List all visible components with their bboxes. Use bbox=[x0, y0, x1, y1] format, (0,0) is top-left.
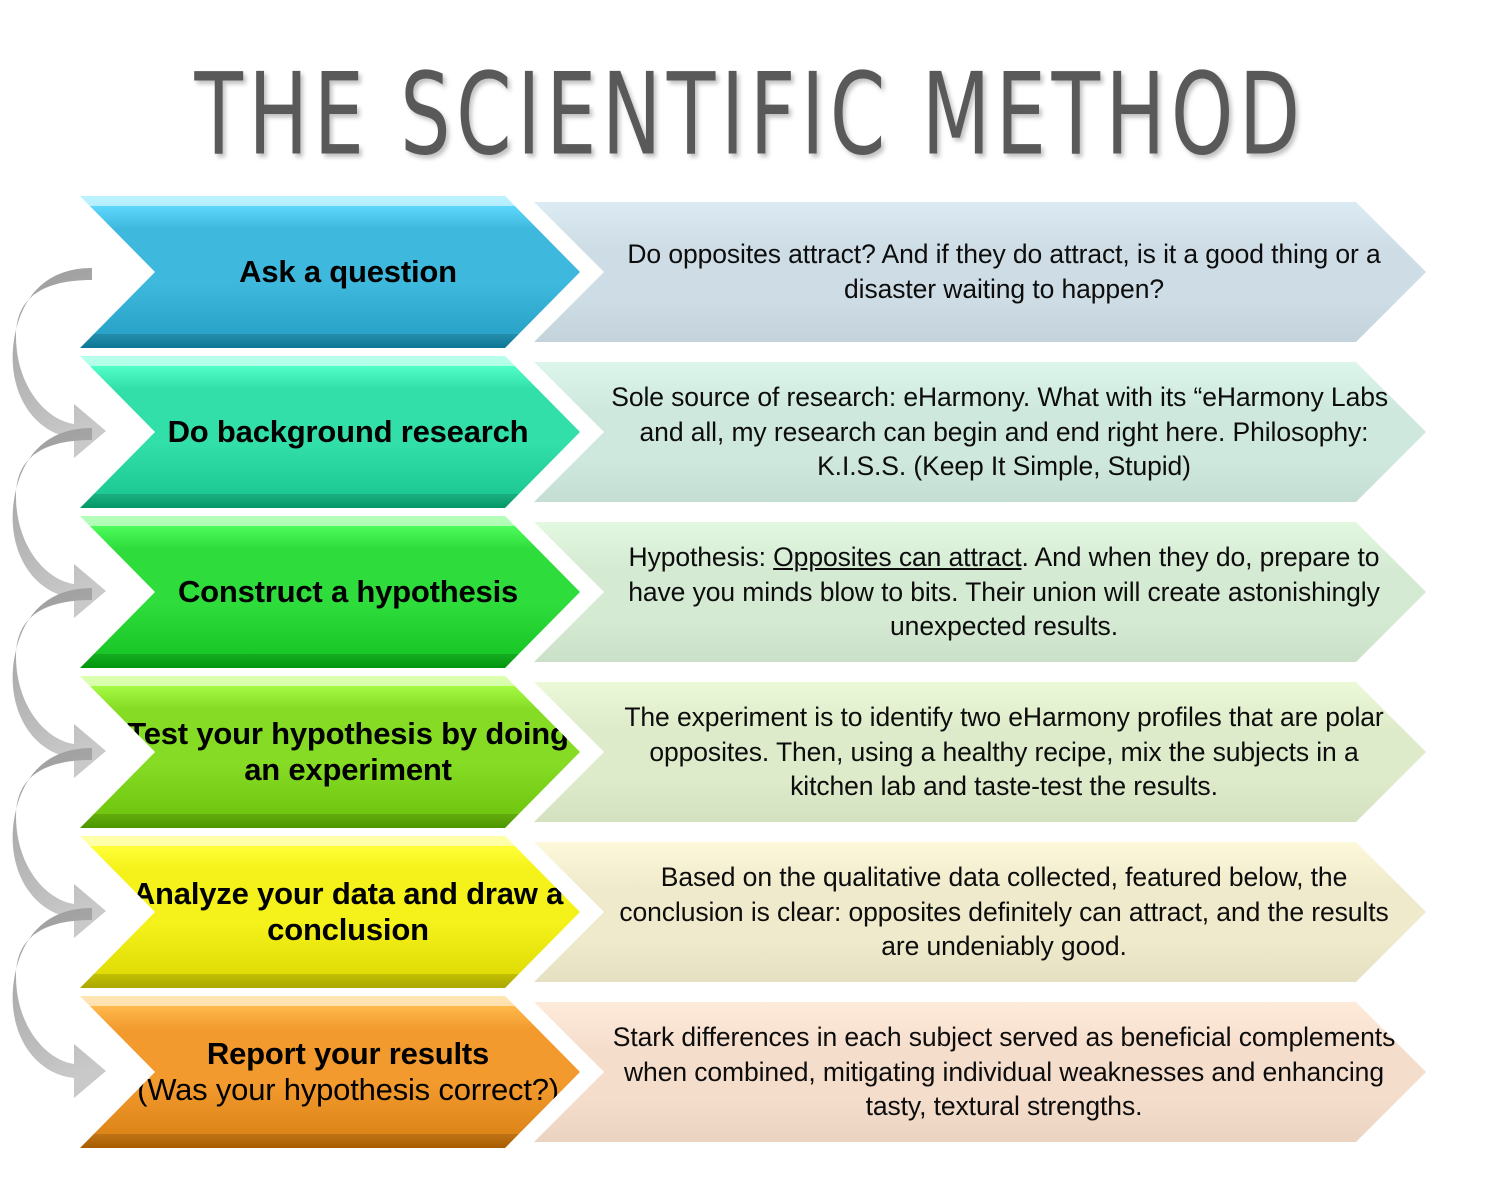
step-label-4: Test your hypothesis by doing an experim… bbox=[80, 716, 580, 788]
description-text-2: Sole source of research: eHarmony. What … bbox=[561, 380, 1399, 485]
step-label-2: Do background research bbox=[128, 414, 533, 450]
step-label-1: Ask a question bbox=[199, 254, 461, 290]
step-chevron-1[interactable]: Ask a question bbox=[80, 196, 580, 348]
step-label-5: Analyze your data and draw a conclusion bbox=[80, 876, 580, 948]
description-chevron-3: Hypothesis: Opposites can attract. And w… bbox=[534, 522, 1426, 662]
step-label-3: Construct a hypothesis bbox=[138, 574, 522, 610]
step-chevron-6[interactable]: Report your results(Was your hypothesis … bbox=[80, 996, 580, 1148]
description-chevron-2: Sole source of research: eHarmony. What … bbox=[534, 362, 1426, 502]
description-text-3: Hypothesis: Opposites can attract. And w… bbox=[561, 540, 1399, 645]
description-chevron-1: Do opposites attract? And if they do att… bbox=[534, 202, 1426, 342]
step-row-3: Construct a hypothesisHypothesis: Opposi… bbox=[0, 516, 1500, 668]
step-row-5: Analyze your data and draw a conclusionB… bbox=[0, 836, 1500, 988]
step-row-6: Report your results(Was your hypothesis … bbox=[0, 996, 1500, 1148]
step-label-6: Report your results(Was your hypothesis … bbox=[97, 1036, 563, 1108]
step-chevron-2[interactable]: Do background research bbox=[80, 356, 580, 508]
description-text-4: The experiment is to identify two eHarmo… bbox=[561, 700, 1399, 805]
page-title: THE SCIENTIFIC METHOD bbox=[60, 58, 1440, 171]
step-row-2: Do background researchSole source of res… bbox=[0, 356, 1500, 508]
step-sublabel-6: (Was your hypothesis correct?) bbox=[137, 1072, 559, 1108]
step-chevron-5[interactable]: Analyze your data and draw a conclusion bbox=[80, 836, 580, 988]
step-row-4: Test your hypothesis by doing an experim… bbox=[0, 676, 1500, 828]
description-chevron-5: Based on the qualitative data collected,… bbox=[534, 842, 1426, 982]
hypothesis-underline: Opposites can attract bbox=[773, 542, 1021, 572]
step-chevron-3[interactable]: Construct a hypothesis bbox=[80, 516, 580, 668]
description-text-6: Stark differences in each subject served… bbox=[561, 1020, 1399, 1125]
step-chevron-4[interactable]: Test your hypothesis by doing an experim… bbox=[80, 676, 580, 828]
step-row-1: Ask a questionDo opposites attract? And … bbox=[0, 196, 1500, 348]
description-chevron-6: Stark differences in each subject served… bbox=[534, 1002, 1426, 1142]
description-text-1: Do opposites attract? And if they do att… bbox=[561, 237, 1399, 307]
description-text-5: Based on the qualitative data collected,… bbox=[561, 860, 1399, 965]
description-chevron-4: The experiment is to identify two eHarmo… bbox=[534, 682, 1426, 822]
